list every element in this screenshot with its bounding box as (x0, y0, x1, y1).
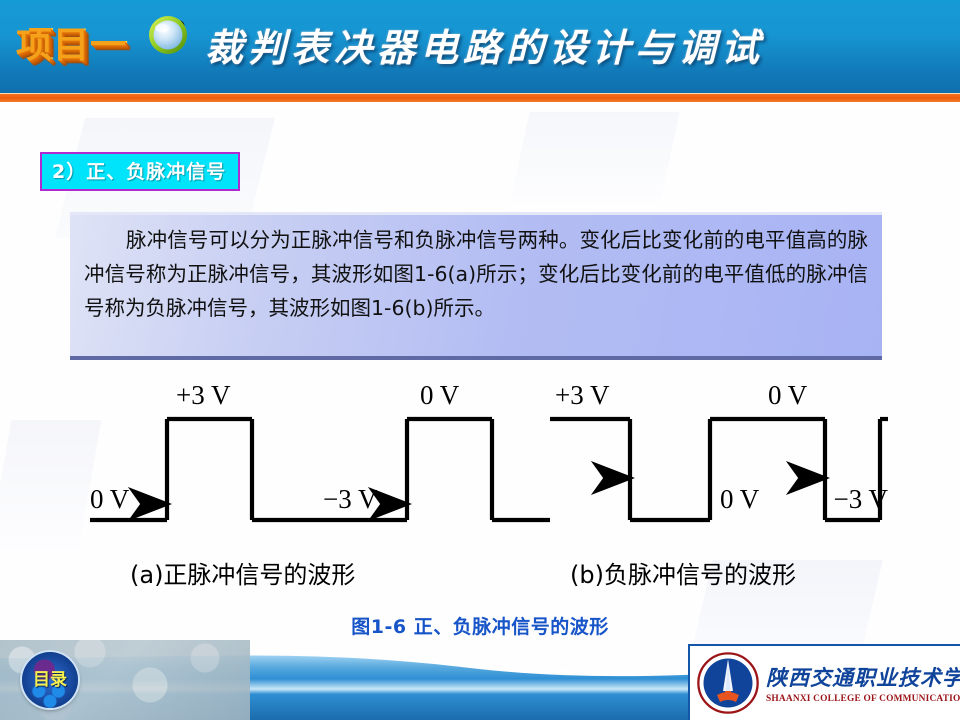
label-b-p2-low: −3 V (834, 484, 889, 514)
slide-canvas: 项目一 (0, 0, 960, 720)
section-subtitle-chip: 2）正、负脉冲信号 (40, 152, 240, 191)
label-b-p1-low: 0 V (720, 484, 760, 514)
magnifier-icon (128, 14, 206, 78)
header-gap (0, 102, 960, 107)
figure-title: 图1-6 正、负脉冲信号的波形 (0, 612, 960, 639)
school-name-en: SHAANXI COLLEGE OF COMMUNICATION TECHNOL… (766, 694, 960, 704)
label-b-p2-high: 0 V (768, 380, 808, 410)
header-accent-bar (0, 93, 960, 102)
page-title: 裁判表决器电路的设计与调试 (205, 12, 950, 84)
figure-caption-row: (a)正脉冲信号的波形 (b)负脉冲信号的波形 (80, 555, 890, 590)
body-paragraph: 脉冲信号可以分为正脉冲信号和负脉冲信号两种。变化后比变化前的电平值高的脉冲信号称… (84, 223, 868, 325)
school-name-cn: 陕西交通职业技术学院 (766, 662, 960, 692)
project-badge: 项目一 (16, 10, 146, 82)
label-a-p1-low: 0 V (90, 484, 130, 514)
body-text-panel: 脉冲信号可以分为正脉冲信号和负脉冲信号两种。变化后比变化前的电平值高的脉冲信号称… (70, 212, 882, 360)
toc-button[interactable]: 目录 (22, 652, 78, 708)
slide-header: 项目一 (0, 0, 960, 93)
label-b-p1-high: +3 V (555, 380, 610, 410)
background-decoration (510, 112, 679, 202)
toc-button-label: 目录 (22, 652, 78, 708)
school-emblem-icon (696, 651, 760, 715)
school-logo-texts: 陕西交通职业技术学院 SHAANXI COLLEGE OF COMMUNICAT… (766, 662, 960, 704)
label-a-p1-high: +3 V (176, 380, 231, 410)
school-logo: 陕西交通职业技术学院 SHAANXI COLLEGE OF COMMUNICAT… (688, 644, 960, 720)
figure-caption-a: (a)正脉冲信号的波形 (130, 555, 530, 590)
figure-caption-b: (b)负脉冲信号的波形 (570, 555, 796, 590)
label-a-p2-high: 0 V (420, 380, 460, 410)
label-a-p2-low: −3 V (323, 484, 378, 514)
